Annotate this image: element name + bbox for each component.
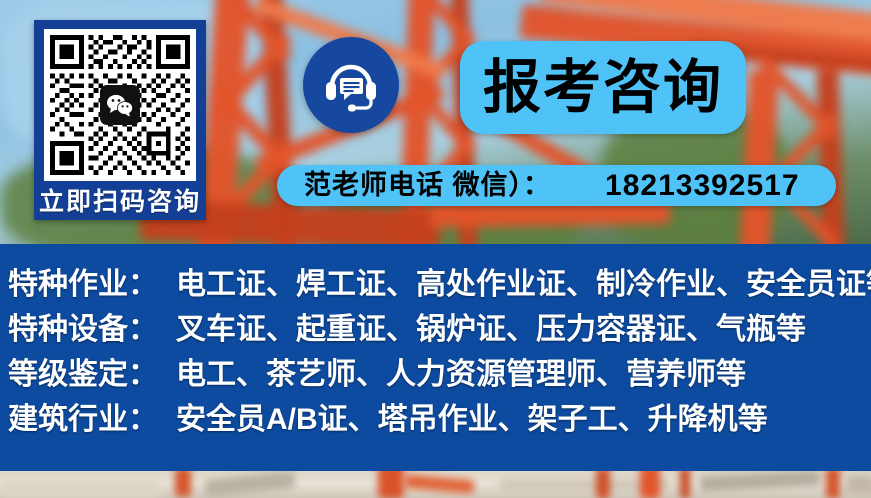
headset-glyph [321,56,381,114]
category-label: 特种作业： [8,270,176,300]
contact-label: 范老师电话 微信）： [304,172,551,199]
info-row: 特种作业：电工证、焊工证、高处作业证、制冷作业、安全员证等 [8,270,871,300]
info-row: 特种设备：叉车证、起重证、锅炉证、压力容器证、气瓶等 [8,315,806,345]
category-value: 叉车证、起重证、锅炉证、压力容器证、气瓶等 [176,315,806,345]
category-value: 电工、茶艺师、人力资源管理师、营养师等 [176,360,746,390]
info-row: 等级鉴定：电工、茶艺师、人力资源管理师、营养师等 [8,360,746,390]
category-value: 电工证、焊工证、高处作业证、制冷作业、安全员证等 [176,270,871,300]
qr-code-card[interactable]: 立即扫码咨询 [34,20,206,220]
title-pill[interactable]: 报考咨询 [460,41,746,134]
certificate-categories-panel: 特种作业：电工证、焊工证、高处作业证、制冷作业、安全员证等 特种设备：叉车证、起… [0,244,871,471]
phone-number[interactable]: 18213392517 [605,171,800,201]
contact-pill[interactable]: 范老师电话 微信）： 18213392517 [277,165,836,206]
promo-poster: 立即扫码咨询 报考咨询 范老师电话 微信）： 18213392517 [0,0,871,498]
category-value: 安全员A/B证、塔吊作业、架子工、升降机等 [176,405,768,435]
qr-code-image[interactable] [44,29,196,181]
wechat-glyph [106,94,134,117]
footer-photo-strip [0,471,871,498]
category-label: 等级鉴定： [8,360,176,390]
page-title: 报考咨询 [483,59,723,117]
category-label: 建筑行业： [8,405,176,435]
headset-support-icon [303,37,399,133]
category-label: 特种设备： [8,315,176,345]
qr-caption: 立即扫码咨询 [34,186,206,220]
wechat-logo-icon [100,85,140,125]
info-row: 建筑行业：安全员A/B证、塔吊作业、架子工、升降机等 [8,405,768,435]
